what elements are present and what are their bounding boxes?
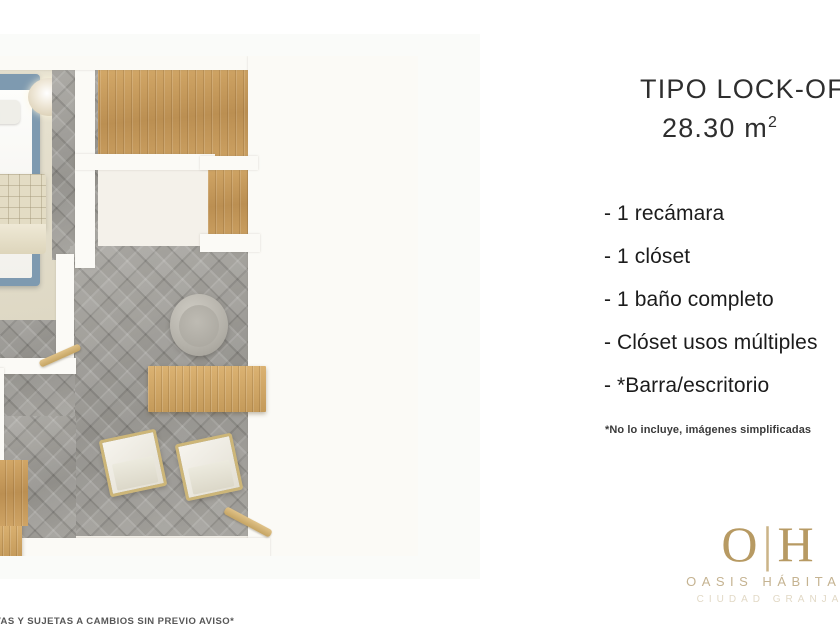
- brand-locality: CIUDAD GRANJA: [640, 592, 840, 608]
- room-closet-floor: [92, 70, 258, 166]
- round-pouf-inner: [179, 305, 219, 347]
- desk-bar-top: [148, 366, 266, 412]
- brochure-canvas: TIPO LOCK-OFF 28.30 m2 - 1 recámara - 1 …: [0, 0, 840, 630]
- unit-area-title: 28.30 m2: [640, 106, 840, 145]
- pillow-right: [0, 100, 20, 124]
- unit-type-title: TIPO LOCK-OFF: [640, 72, 840, 106]
- wall-right-notch: [200, 234, 260, 252]
- monogram-divider: |: [762, 516, 777, 572]
- throw-blanket-fold: [0, 224, 46, 254]
- feature-item-recamara: - 1 recámara: [604, 192, 840, 235]
- armchair-left-seat: [112, 456, 158, 491]
- feature-item-barra-escritorio: - *Barra/escritorio: [604, 364, 840, 407]
- armchair-right: [175, 433, 244, 502]
- brand-logo: O|H OASIS HÁBITAT CIUDAD GRANJA: [640, 516, 840, 608]
- armchair-right-seat: [188, 460, 234, 495]
- wall-mid-horizontal: [0, 358, 76, 374]
- wood-panel-bath: [0, 460, 28, 526]
- round-pouf: [170, 294, 228, 356]
- monogram-letter-h: H: [778, 516, 819, 572]
- footer-legal-text: *IMÁGENES ILUSTRATIVAS Y SUJETAS A CAMBI…: [0, 616, 234, 627]
- brand-monogram: O|H: [640, 516, 840, 572]
- feature-item-closet: - 1 clóset: [604, 235, 840, 278]
- wall-right-perimeter: [248, 56, 418, 556]
- unit-features-list: - 1 recámara - 1 clóset - 1 baño complet…: [604, 192, 840, 407]
- feature-item-bano: - 1 baño completo: [604, 278, 840, 321]
- wall-closet-step: [200, 156, 258, 170]
- feature-item-closet-usos-multiples: - Clóset usos múltiples: [604, 321, 840, 364]
- unit-title-block: TIPO LOCK-OFF 28.30 m2: [560, 72, 840, 145]
- armchair-left: [99, 429, 168, 498]
- monogram-letter-o: O: [721, 516, 762, 572]
- unit-area-value: 28.30 m: [662, 113, 768, 143]
- wall-bottom-perimeter: [0, 538, 270, 556]
- brand-name: OASIS HÁBITAT: [640, 572, 840, 592]
- wall-closet-bottom: [75, 154, 215, 170]
- unit-area-exponent: 2: [768, 114, 778, 131]
- floorplan-panel: [0, 34, 480, 579]
- floorplan-render-image: [0, 56, 418, 556]
- throw-blanket: [0, 174, 46, 230]
- features-disclaimer: *No lo incluye, imágenes simplificadas: [605, 424, 811, 436]
- closet-usos-multiples-shelf: [0, 522, 22, 556]
